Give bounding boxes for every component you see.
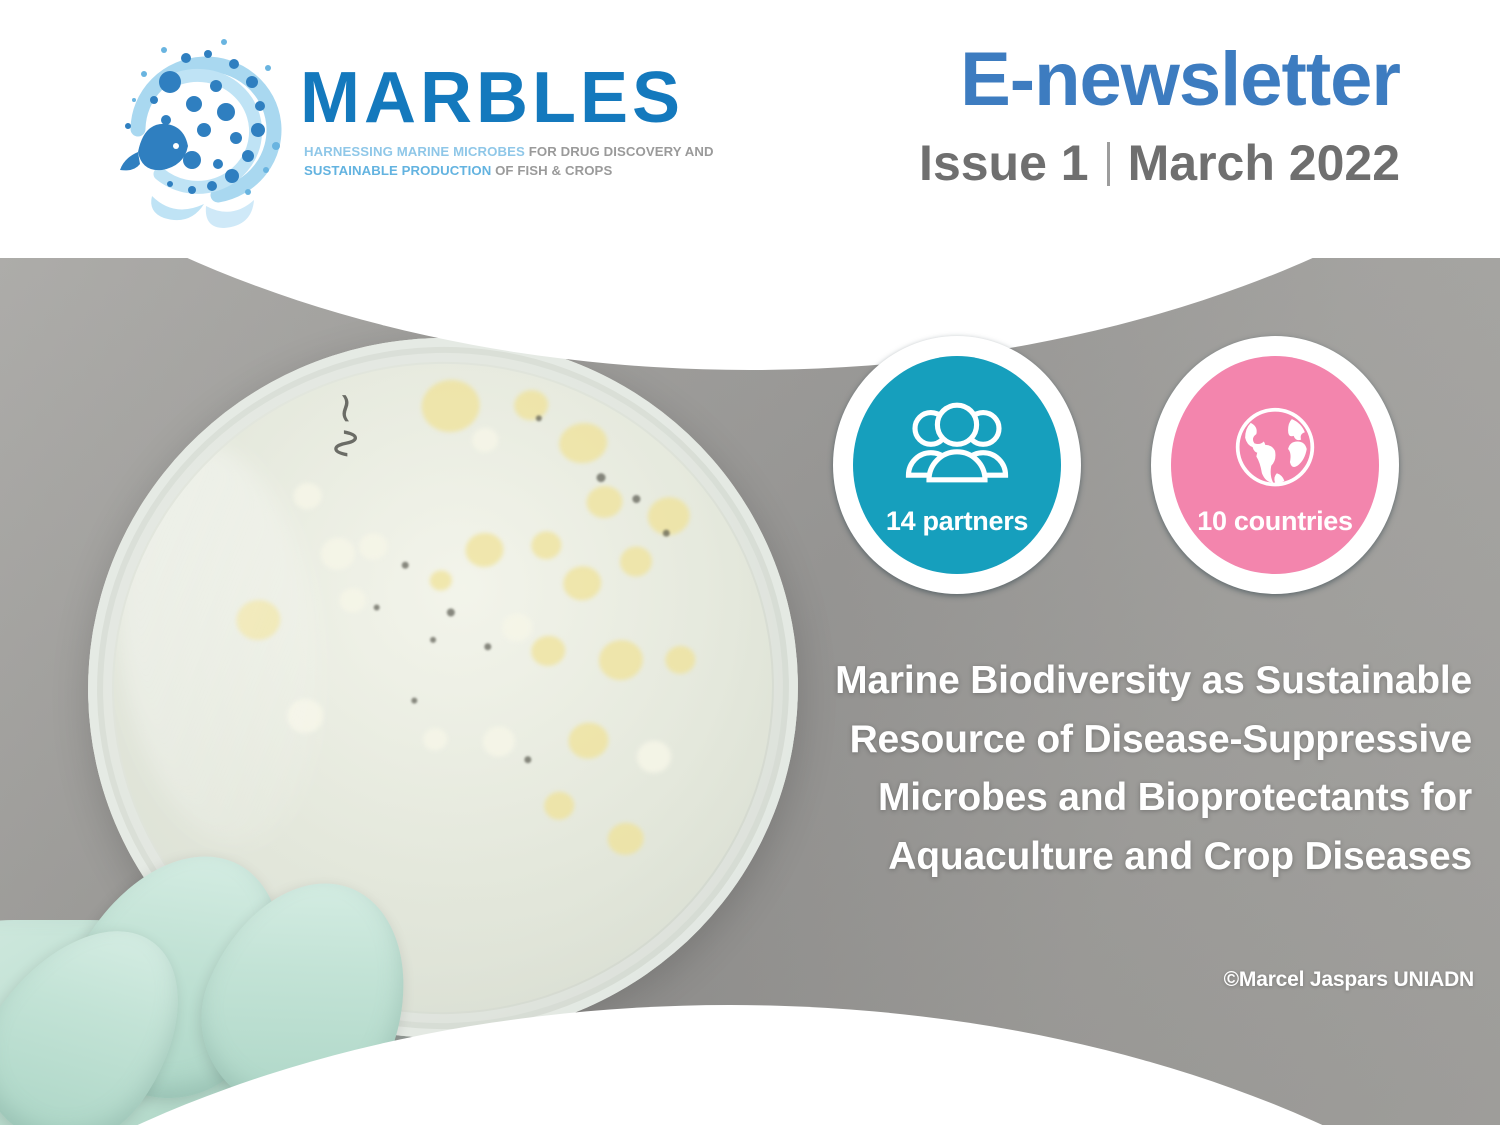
header-title-block: E-newsletter Issue 1March 2022 — [740, 40, 1400, 189]
people-group-icon — [901, 400, 1013, 498]
hero-title-line-2: Resource of Disease-Suppressive — [712, 711, 1472, 770]
badge-countries[interactable]: 10 countries — [1151, 336, 1399, 594]
newsletter-cover-page: ~∿ — [0, 0, 1500, 1125]
page-title: E-newsletter — [740, 40, 1400, 121]
marbles-logo: MARBLES HARNESSING MARINE MICROBES FOR D… — [108, 26, 718, 231]
tagline-part-2: FOR DRUG DISCOVERY AND — [529, 144, 714, 159]
hero-title-line-1: Marine Biodiversity as Sustainable — [712, 652, 1472, 711]
badge-partners-label: 14 partners — [886, 506, 1028, 537]
tagline-part-1: HARNESSING MARINE MICROBES — [304, 144, 529, 159]
hero-title-line-4: Aquaculture and Crop Diseases — [712, 828, 1472, 887]
issue-line: Issue 1March 2022 — [740, 137, 1400, 190]
stats-badges: 14 partners 10 countries — [833, 336, 1403, 598]
tagline-part-3: SUSTAINABLE PRODUCTION — [304, 163, 495, 178]
photo-credit: ©Marcel Jaspars UNIADN — [1224, 968, 1474, 992]
logo-wordmark: MARBLES — [300, 62, 684, 134]
badge-countries-label: 10 countries — [1197, 506, 1352, 537]
hero-title: Marine Biodiversity as Sustainable Resou… — [712, 652, 1472, 886]
page-header: MARBLES HARNESSING MARINE MICROBES FOR D… — [0, 0, 1500, 258]
dish-marker-scribble: ~∿ — [261, 391, 371, 501]
globe-icon — [1219, 400, 1331, 498]
marbles-circular-microbe-fish-logo-icon — [108, 34, 308, 229]
issue-date: March 2022 — [1128, 135, 1400, 191]
hero-title-line-3: Microbes and Bioprotectants for — [712, 769, 1472, 828]
issue-label: Issue 1 — [919, 135, 1089, 191]
tagline-part-4: OF FISH & CROPS — [495, 163, 612, 178]
issue-separator — [1107, 142, 1110, 186]
logo-tagline: HARNESSING MARINE MICROBES FOR DRUG DISC… — [304, 143, 724, 180]
badge-partners[interactable]: 14 partners — [833, 336, 1081, 594]
